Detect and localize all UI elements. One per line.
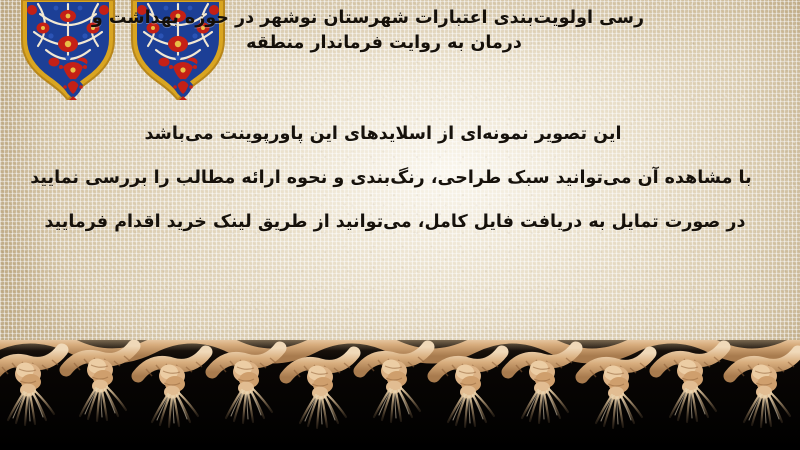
carpet-fringe-band — [0, 340, 800, 450]
carpet-knotted-fringe — [0, 340, 800, 450]
persian-medallion-ornament-right — [128, 0, 238, 104]
persian-medallion-ornament-left — [18, 0, 128, 104]
presentation-slide: رسی اولویت‌بندی اعتبارات شهرستان نوشهر د… — [0, 0, 800, 450]
